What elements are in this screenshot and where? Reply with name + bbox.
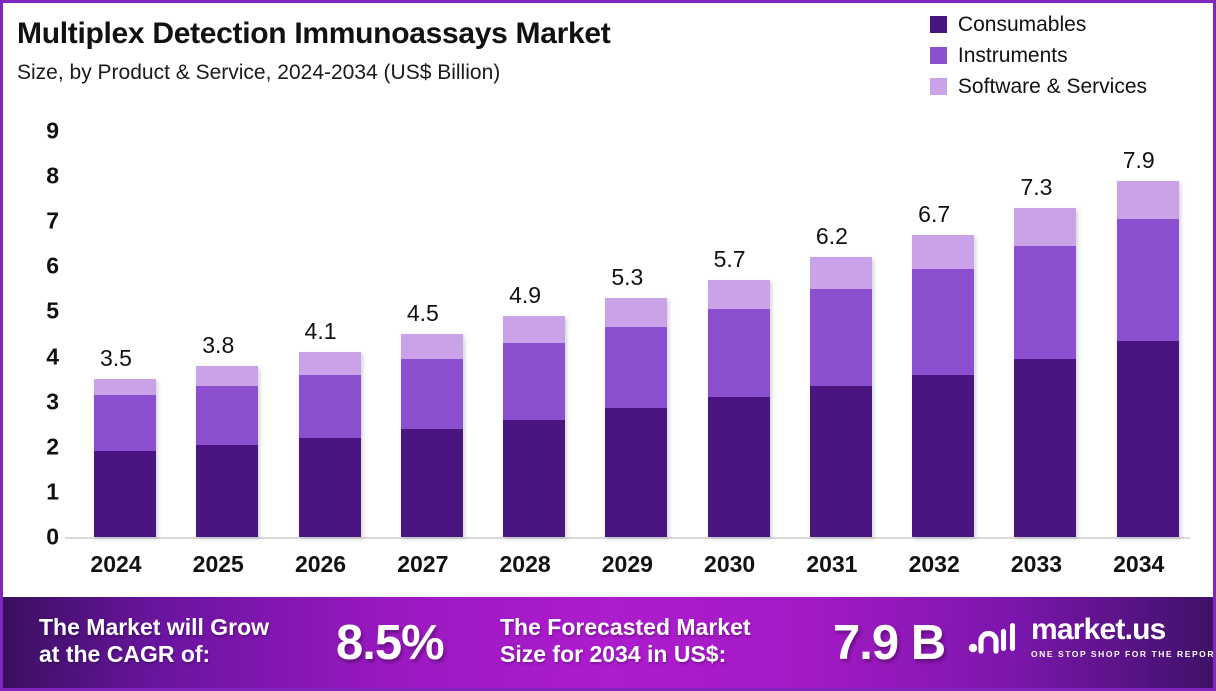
y-axis-tick: 8 <box>29 163 59 190</box>
x-axis-tick-label: 2030 <box>679 551 781 578</box>
chart-plot-area: 0123456789 3.53.84.14.54.95.35.76.26.77.… <box>3 3 1213 598</box>
x-axis-tick-label: 2029 <box>576 551 678 578</box>
y-axis-tick: 4 <box>29 343 59 370</box>
y-axis: 0123456789 <box>29 3 59 598</box>
market-us-logo-text: market.us ONE STOP SHOP FOR THE REPORTS <box>1031 615 1213 659</box>
market-us-logo-icon <box>968 617 1022 657</box>
bottom-banner: The Market will Growat the CAGR of: 8.5%… <box>3 597 1213 688</box>
logo-tagline: ONE STOP SHOP FOR THE REPORTS <box>1031 649 1213 659</box>
forecast-value: 7.9 B <box>833 615 945 671</box>
x-axis-tick-label: 2024 <box>65 551 167 578</box>
x-axis-tick-label: 2032 <box>883 551 985 578</box>
x-axis-tick-label: 2034 <box>1088 551 1190 578</box>
x-axis-tick-label: 2028 <box>474 551 576 578</box>
y-axis-tick: 6 <box>29 253 59 280</box>
infographic-page: Multiplex Detection Immunoassays Market … <box>0 0 1216 691</box>
x-axis-tick-label: 2031 <box>781 551 883 578</box>
y-axis-tick: 9 <box>29 118 59 145</box>
x-axis-tick-label: 2026 <box>270 551 372 578</box>
cagr-caption: The Market will Growat the CAGR of: <box>39 614 269 668</box>
y-axis-tick: 0 <box>29 524 59 551</box>
y-axis-tick: 1 <box>29 478 59 505</box>
cagr-value: 8.5% <box>336 615 444 671</box>
x-axis-tick-label: 2027 <box>372 551 474 578</box>
x-axis-labels: 2024202520262027202820292030203120322033… <box>65 3 1190 598</box>
x-axis-tick-label: 2033 <box>985 551 1087 578</box>
y-axis-tick: 7 <box>29 208 59 235</box>
y-axis-tick: 2 <box>29 433 59 460</box>
y-axis-tick: 3 <box>29 388 59 415</box>
market-us-logo: market.us ONE STOP SHOP FOR THE REPORTS <box>968 615 1213 659</box>
x-axis-tick-label: 2025 <box>167 551 269 578</box>
y-axis-tick: 5 <box>29 298 59 325</box>
logo-name: market.us <box>1031 615 1213 645</box>
forecast-caption: The Forecasted MarketSize for 2034 in US… <box>500 614 751 668</box>
